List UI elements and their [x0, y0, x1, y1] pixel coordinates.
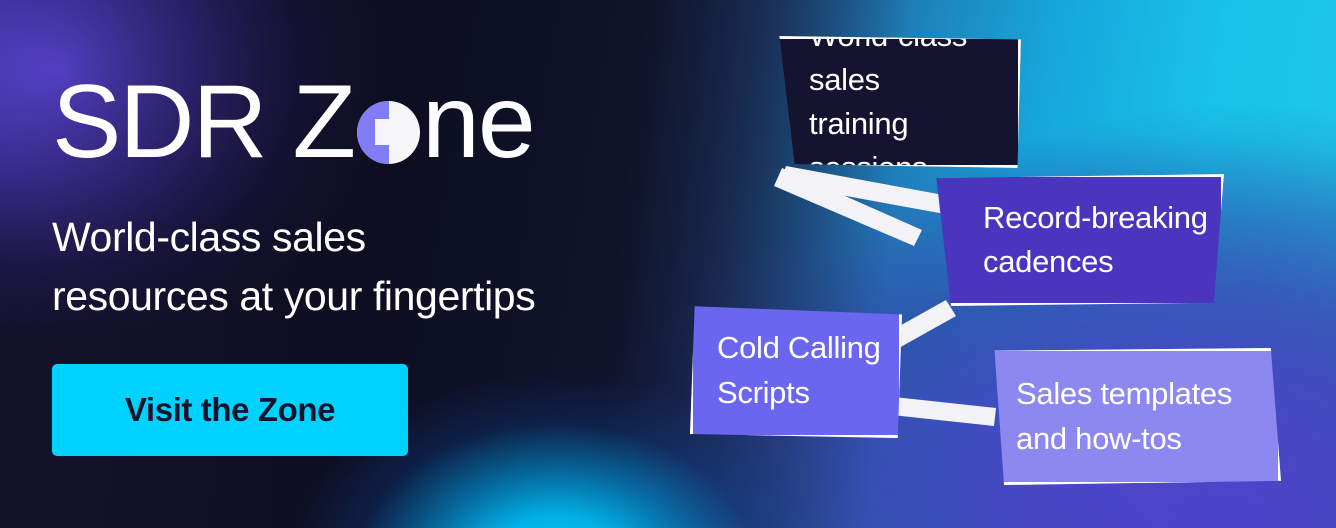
logo-notch: [375, 119, 391, 144]
card-sales-templates[interactable]: Sales templates and how-tos: [991, 348, 1281, 485]
sdr-zone-wordmark: SDR Z ne: [52, 66, 672, 178]
card-scripts-line-2: Scripts: [717, 371, 899, 415]
card-cadences-line-1: Record-breaking: [983, 196, 1221, 240]
subheading-line-1: World-class sales: [52, 208, 672, 267]
zone-circle-logo-icon: [357, 101, 420, 164]
wordmark-text-after: ne: [422, 70, 534, 174]
card-training-sessions[interactable]: World-class sales training sessions: [768, 36, 1021, 168]
card-templates-line-2: and how-tos: [1016, 417, 1278, 461]
subheading-line-2: resources at your fingertips: [52, 267, 672, 326]
card-cadences-line-2: cadences: [983, 240, 1221, 284]
banner-content-column: SDR Z ne World-class sales resources at …: [52, 66, 672, 456]
card-record-breaking-cadences[interactable]: Record-breaking cadences: [932, 174, 1224, 306]
resource-cards-cluster: World-class sales training sessions Reco…: [660, 0, 1336, 528]
card-templates-line-1: Sales templates: [1016, 372, 1278, 416]
card-scripts-line-1: Cold Calling: [717, 326, 899, 370]
wordmark-text-before: SDR Z: [52, 70, 354, 174]
visit-the-zone-button[interactable]: Visit the Zone: [52, 364, 408, 456]
card-cold-calling-scripts[interactable]: Cold Calling Scripts: [690, 303, 902, 438]
banner-subheading: World-class sales resources at your fing…: [52, 208, 672, 326]
sdr-zone-promo-banner: SDR Z ne World-class sales resources at …: [0, 0, 1336, 528]
